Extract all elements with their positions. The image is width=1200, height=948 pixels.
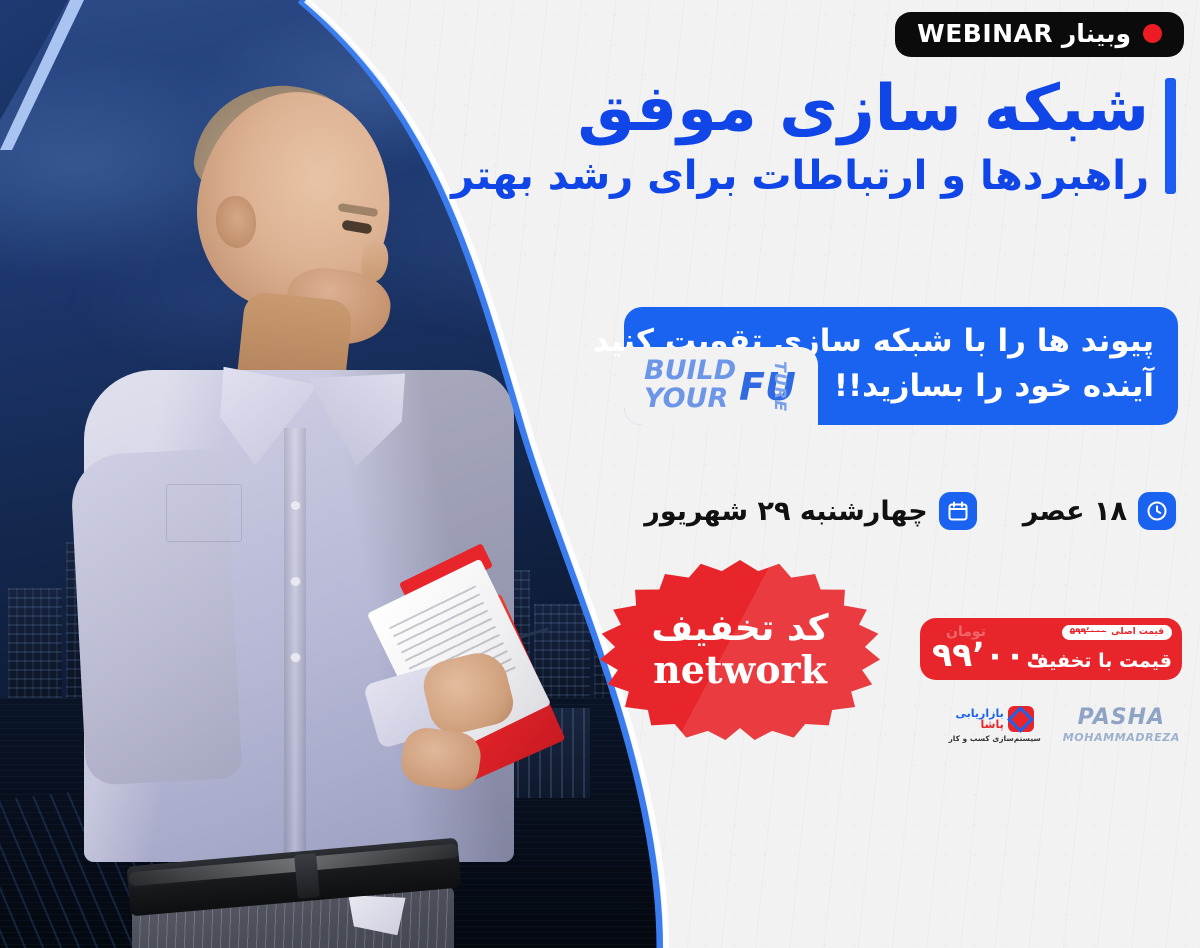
logo-row: PASHA MOHAMMADREZA بازاریابی پاشا سیستم‌…: [948, 706, 1180, 743]
schedule-date-label: چهارشنبه ۲۹ شهریور: [644, 496, 928, 527]
shirt-pocket: [166, 484, 242, 542]
brand-logo-word2: پاشا: [981, 719, 1004, 730]
pasha-logo-sub: MOHAMMADREZA: [1063, 732, 1180, 743]
discount-code-title: کد تخفیف: [651, 611, 828, 647]
discount-price-label: قیمت با تخفیف: [1027, 650, 1172, 672]
schedule-row: ۱۸ عصر چهارشنبه ۲۹ شهریور: [644, 492, 1176, 530]
webinar-badge: وبینار WEBINAR: [895, 12, 1184, 57]
schedule-time: ۱۸ عصر: [1023, 492, 1176, 530]
byf-your-text: YOUR: [644, 383, 728, 414]
original-price-value: ۵۹۹٬۰۰۰: [1070, 627, 1106, 637]
schedule-time-label: ۱۸ عصر: [1023, 496, 1127, 527]
original-price-label: قیمت اصلی: [1111, 627, 1164, 637]
discount-code-badge: کد تخفیف network: [600, 560, 880, 740]
shirt-button: [290, 576, 301, 587]
calendar-icon: [939, 492, 977, 530]
discount-price-amount: ۹۹٬۰۰۰: [932, 635, 1045, 674]
pasha-logo-main: PASHA: [1063, 707, 1180, 729]
brand-logo: بازاریابی پاشا سیستم‌سازی کسب و کار: [948, 706, 1040, 743]
price-box: قیمت اصلی ۵۹۹٬۰۰۰ تومان قیمت با تخفیف ۹۹…: [920, 618, 1182, 680]
speaker-figure: [70, 70, 540, 948]
headline-block: شبکه سازی موفق راهبردها و ارتباطات برای …: [451, 74, 1176, 200]
shirt-button: [290, 500, 301, 511]
belt-buckle: [294, 853, 320, 899]
headline-accent-bar: [1165, 78, 1176, 194]
build-your-future-graphic: BUILD YOUR FU TURE: [638, 353, 814, 419]
headline-secondary: راهبردها و ارتباطات برای رشد بهتر: [451, 152, 1149, 200]
schedule-date: چهارشنبه ۲۹ شهریور: [644, 492, 977, 530]
record-dot-icon: [1143, 24, 1162, 43]
shirt-button: [290, 652, 301, 663]
byf-ture-text: TURE: [771, 361, 790, 412]
shirt-placket: [284, 428, 306, 858]
headline-primary: شبکه سازی موفق: [451, 74, 1149, 146]
original-price-chip: قیمت اصلی ۵۹۹٬۰۰۰: [1062, 625, 1172, 640]
subtitle-panel: پیوند ها را با شبکه سازی تقویت کنید آیند…: [624, 307, 1178, 425]
webinar-poster: وبینار WEBINAR شبکه سازی موفق راهبردها و…: [0, 0, 1200, 948]
discount-code-value: network: [653, 651, 827, 689]
byf-build-text: BUILD: [644, 355, 736, 386]
clock-icon: [1138, 492, 1176, 530]
brand-logo-sub: سیستم‌سازی کسب و کار: [948, 734, 1040, 743]
pasha-logo: PASHA MOHAMMADREZA: [1063, 707, 1180, 743]
diamond-logo-icon: [1008, 706, 1034, 732]
webinar-badge-label: وبینار WEBINAR: [917, 21, 1131, 46]
